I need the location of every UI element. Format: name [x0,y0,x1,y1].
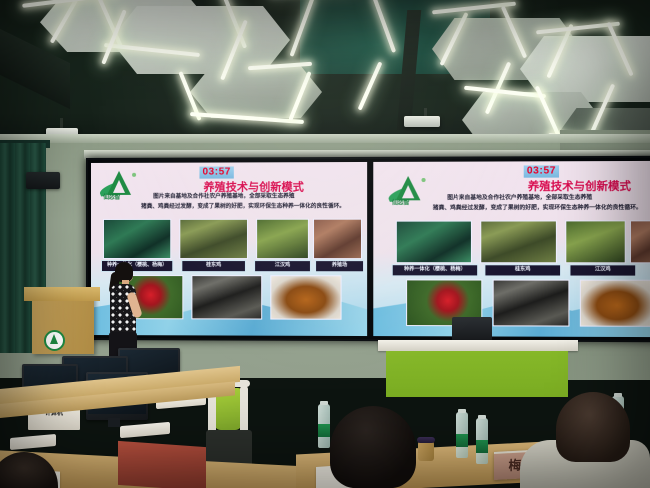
lectern-top [24,287,100,301]
slide-caption: 桂东鸡 [484,264,561,276]
bottle-label [318,424,330,437]
presenter-hair [115,262,133,282]
water-bottle[interactable] [456,412,468,458]
slide-body-line2: 猪粪、鸡粪经过发酵，变成了果树的好肥，实现环保生态种养一体化的良性循环。 [433,204,642,213]
slide-right: 仙恋智 03:57 养殖技术与创新模式 图片来自基地及合作社农户养殖基地，全部采… [373,161,650,337]
slide-timer: 03:57 [524,165,559,177]
led-video-wall[interactable]: 仙恋智 03:57 养殖技术与创新模式 图片来自基地及合作社农户养殖基地，全部采… [86,156,650,343]
slide-photo [270,275,341,320]
wall-speaker [26,172,60,189]
logo-text: 仙恋智 [392,197,410,206]
slide-photo [256,219,309,259]
slide-photo [480,220,557,263]
keyboard[interactable] [10,434,56,450]
slide-caption: 桂东鸡 [181,260,246,272]
slide-photo [580,280,650,327]
bottle-label [476,440,488,453]
slide-photo [493,280,570,327]
slide-caption: 江汉鸡 [569,264,636,276]
monitor-stand [108,418,120,427]
ceiling-projector [404,116,440,127]
slide-body-line2: 猪粪、鸡粪经过发酵，变成了果树的好肥，实现环保生态种养一体化的良性循环。 [141,202,345,211]
slide-photo [565,220,626,263]
bottle-cap [320,401,328,405]
lecture-hall-photo: 仙恋智 03:57 养殖技术与创新模式 图片来自基地及合作社农户养殖基地，全部采… [0,0,650,488]
teacher-desk-top [378,340,578,351]
bottle-label [456,434,468,447]
company-logo: 仙恋智 [99,171,147,203]
hexagon-light-panel [110,6,290,74]
slide-caption: 种养一体化（樱桃、杨梅） [392,264,478,276]
audience-head-center [330,406,416,488]
wall-trim [0,134,650,143]
bottle-cap [458,409,466,413]
presenter [106,262,140,358]
ceiling [0,0,650,150]
keyboard[interactable] [120,422,170,438]
slide-photo [630,220,650,263]
table-mat [118,441,206,488]
lectern-logo-icon [44,330,65,351]
water-bottle[interactable] [476,418,488,464]
laptop[interactable] [452,317,492,341]
audience-head-right [556,392,630,462]
bottle-cap [478,415,486,419]
slide-photo [103,219,171,259]
cup-lid [417,437,435,443]
slide-photo [191,275,262,319]
slide-body-line1: 图片来自基地及合作社农户养殖基地，全部采取生态养殖 [447,194,592,203]
slide-body-line1: 图片来自基地及合作社农户养殖基地，全部采取生态养殖 [153,193,294,202]
slide-photo [396,221,472,264]
slide-timer: 03:57 [199,166,233,178]
bottle-cap [614,393,622,397]
coffee-cup[interactable] [418,442,434,461]
teacher-desk [386,351,568,397]
company-logo: 仙恋智 [388,176,437,209]
slide-title: 养殖技术与创新模式 [528,177,631,194]
logo-text: 仙恋智 [103,192,120,201]
slide-photo [179,219,248,259]
water-bottle[interactable] [318,404,330,448]
slide-photo [313,219,362,259]
slide-caption: 江汉鸡 [254,260,311,272]
slide-caption: 养殖场 [315,260,364,272]
